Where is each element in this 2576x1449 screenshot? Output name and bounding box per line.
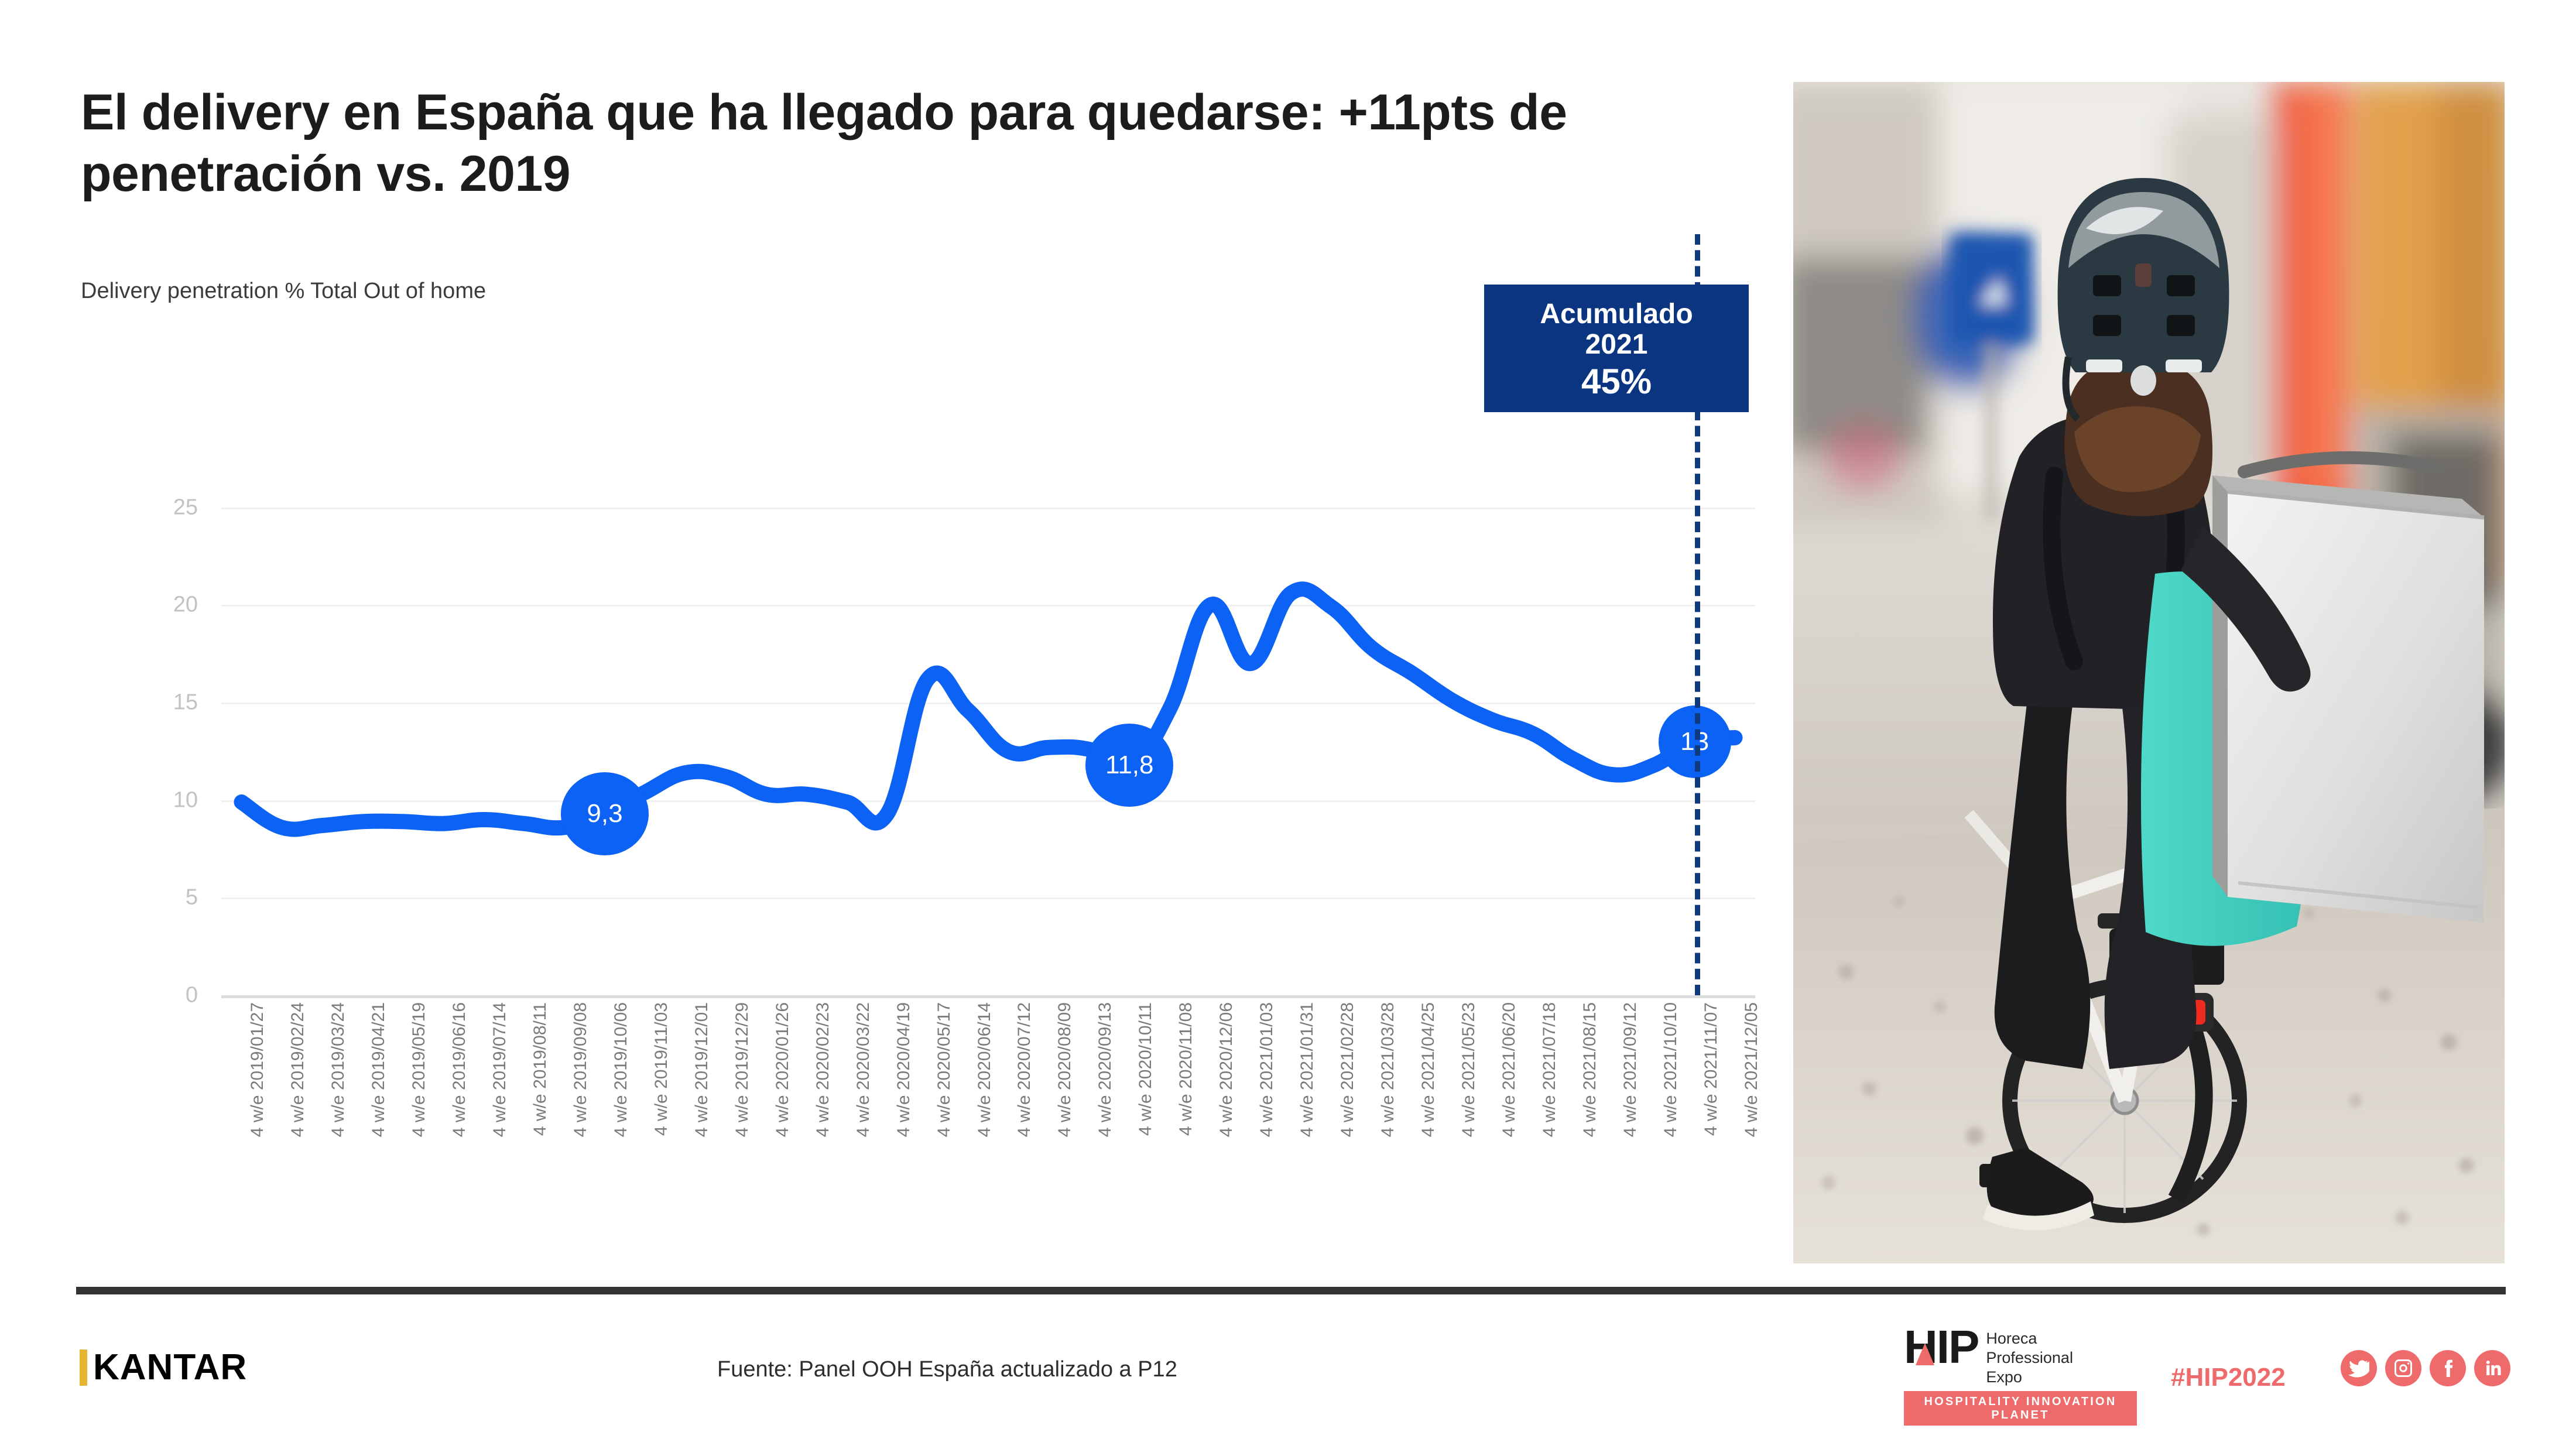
x-axis-label: 4 w/e 2019/01/27 — [248, 1002, 268, 1137]
x-axis-label: 4 w/e 2021/10/10 — [1661, 1002, 1681, 1137]
y-axis-tick-0: 0 — [104, 983, 198, 1008]
x-axis-label: 4 w/e 2020/08/09 — [1055, 1002, 1075, 1137]
hip-sub-line-1: Horeca — [1986, 1329, 2073, 1348]
callout-acumulado-2021: Acumulado 2021 45% — [1484, 285, 1749, 412]
page-title: El delivery en España que ha llegado par… — [81, 82, 1779, 205]
x-axis-label: 4 w/e 2020/01/26 — [773, 1002, 793, 1137]
x-axis-label: 4 w/e 2021/05/23 — [1459, 1002, 1479, 1137]
x-axis-label: 4 w/e 2019/04/21 — [369, 1002, 389, 1137]
kantar-logo: KANTAR — [80, 1347, 247, 1388]
x-axis-label: 4 w/e 2019/11/03 — [652, 1002, 672, 1136]
instagram-icon[interactable] — [2385, 1350, 2421, 1386]
chart-plot-area: 9,311,813 — [221, 468, 1755, 995]
kantar-wordmark: KANTAR — [93, 1347, 247, 1388]
x-axis-label: 4 w/e 2019/08/11 — [530, 1002, 550, 1136]
linkedin-icon[interactable] — [2474, 1350, 2510, 1386]
x-axis-label: 4 w/e 2020/12/06 — [1217, 1002, 1236, 1137]
x-axis-label: 4 w/e 2020/03/22 — [854, 1002, 873, 1137]
hip-tagline-banner: HOSPITALITY INNOVATION PLANET — [1904, 1391, 2137, 1426]
data-label-11-8: 11,8 — [1085, 724, 1173, 807]
x-axis-label: 4 w/e 2020/04/19 — [894, 1002, 914, 1137]
x-axis-label: 4 w/e 2019/07/14 — [490, 1002, 510, 1137]
x-axis-label: 4 w/e 2021/02/28 — [1338, 1002, 1358, 1137]
facebook-icon[interactable] — [2430, 1350, 2466, 1386]
x-axis-label: 4 w/e 2020/05/17 — [934, 1002, 954, 1137]
x-axis-label: 4 w/e 2019/09/08 — [571, 1002, 591, 1137]
x-axis-label: 4 w/e 2021/12/05 — [1742, 1002, 1762, 1137]
data-label-9-3: 9,3 — [561, 772, 649, 855]
hip-subtitle: Horeca Professional Expo — [1986, 1328, 2073, 1387]
x-axis-label: 4 w/e 2019/05/19 — [409, 1002, 429, 1137]
hip-sub-line-2: Professional — [1986, 1348, 2073, 1368]
x-axis-label: 4 w/e 2021/11/07 — [1701, 1002, 1721, 1136]
source-note: Fuente: Panel OOH España actualizado a P… — [717, 1357, 1177, 1382]
hip-wordmark: HIP — [1904, 1328, 1978, 1366]
callout-value: 45% — [1581, 362, 1652, 401]
x-axis-label: 4 w/e 2020/06/14 — [975, 1002, 995, 1137]
y-axis-tick-10: 10 — [104, 787, 198, 813]
x-axis-label: 4 w/e 2019/12/01 — [692, 1002, 712, 1137]
x-axis-label: 4 w/e 2019/10/06 — [611, 1002, 631, 1137]
x-axis-label: 4 w/e 2021/04/25 — [1419, 1002, 1438, 1137]
x-axis-label: 4 w/e 2021/01/03 — [1257, 1002, 1277, 1137]
x-axis-label: 4 w/e 2021/09/12 — [1621, 1002, 1640, 1137]
kantar-gold-bar — [80, 1349, 87, 1386]
x-axis-label: 4 w/e 2019/03/24 — [328, 1002, 348, 1137]
callout-line-2: 2021 — [1585, 330, 1648, 360]
twitter-icon[interactable] — [2341, 1350, 2377, 1386]
y-axis-tick-5: 5 — [104, 885, 198, 910]
chart-subtitle: Delivery penetration % Total Out of home — [81, 279, 486, 304]
gridline-0 — [221, 995, 1755, 998]
x-axis-label: 4 w/e 2019/02/24 — [288, 1002, 308, 1137]
footer-divider — [76, 1287, 2506, 1294]
x-axis-label: 4 w/e 2020/07/12 — [1015, 1002, 1034, 1137]
x-axis-label: 4 w/e 2020/10/11 — [1136, 1002, 1156, 1136]
x-axis-label: 4 w/e 2020/09/13 — [1095, 1002, 1115, 1137]
y-axis-tick-15: 15 — [104, 690, 198, 715]
x-axis-label: 4 w/e 2020/02/23 — [813, 1002, 833, 1137]
hip-sub-line-3: Expo — [1986, 1368, 2073, 1387]
hip-triangle-icon — [1916, 1343, 1934, 1365]
x-axis-labels: 4 w/e 2019/01/274 w/e 2019/02/244 w/e 20… — [221, 1002, 1755, 1195]
line-chart: 9,311,813 0510152025 — [81, 468, 1755, 995]
x-axis-label: 4 w/e 2021/08/15 — [1580, 1002, 1600, 1137]
delivery-cyclist-photo — [1793, 82, 2505, 1263]
event-hashtag: #HIP2022 — [2171, 1363, 2286, 1392]
social-links — [2341, 1350, 2510, 1386]
x-axis-label: 4 w/e 2019/06/16 — [450, 1002, 470, 1137]
x-axis-label: 4 w/e 2021/03/28 — [1378, 1002, 1398, 1137]
y-axis-tick-20: 20 — [104, 592, 198, 618]
x-axis-label: 4 w/e 2019/12/29 — [732, 1002, 752, 1137]
x-axis-label: 4 w/e 2021/01/31 — [1297, 1002, 1317, 1137]
callout-line-1: Acumulado — [1540, 299, 1693, 330]
x-axis-label: 4 w/e 2020/11/08 — [1176, 1002, 1196, 1136]
x-axis-label: 4 w/e 2021/07/18 — [1540, 1002, 1560, 1137]
hip-logo: HIP Horeca Professional Expo HOSPITALITY… — [1904, 1328, 2150, 1426]
y-axis-tick-25: 25 — [104, 495, 198, 520]
delivery-penetration-line — [221, 468, 1755, 995]
x-axis-label: 4 w/e 2021/06/20 — [1499, 1002, 1519, 1137]
